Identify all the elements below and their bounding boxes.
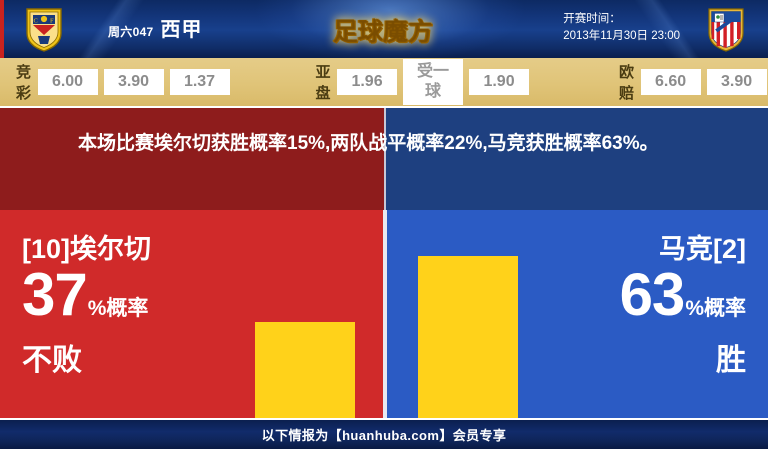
match-probability-infographic: C F 周六047 西甲 足球魔方 开赛时间： 2013年11月30日 23:0… (0, 0, 768, 449)
summary-text: 本场比赛埃尔切获胜概率15%,两队战平概率22%,马竞获胜概率63%。 (78, 128, 698, 160)
odds-group-title: 亚盘 (316, 61, 332, 103)
footer-bar: 以下情报为【huanhuba.com】会员专享 (0, 418, 768, 449)
bar-home-probability (255, 322, 355, 418)
odds-group-european: 欧赔 6.60 3.90 1.51 (619, 61, 768, 103)
kickoff-value: 2013年11月30日 23:00 (563, 28, 680, 45)
svg-text:F: F (50, 18, 54, 25)
odds-cell-draw[interactable]: 3.90 (104, 69, 164, 95)
odds-cell-away[interactable]: 1.37 (170, 69, 230, 95)
odds-group-title: 竞彩 (16, 61, 32, 103)
away-stats-block: 马竞[2] 63 %概率 胜 (620, 232, 746, 382)
odds-group-asian-handicap: 亚盘 1.96 受一球 1.90 (316, 59, 530, 105)
home-percent-line: 37 %概率 (22, 266, 151, 338)
home-percent-value: 37 (22, 266, 87, 324)
elche-cf-crest-icon: C F (24, 6, 64, 52)
away-percent-suffix: %概率 (685, 280, 746, 338)
odds-cell-draw[interactable]: 3.90 (707, 69, 767, 95)
atletico-madrid-crest-icon (706, 6, 746, 52)
footer-text: 以下情报为【huanhuba.com】会员专享 (262, 425, 507, 444)
home-stats-block: [10]埃尔切 37 %概率 不败 (22, 232, 151, 382)
odds-group-jingcai: 竞彩 6.00 3.90 1.37 (16, 61, 230, 103)
home-percent-suffix: %概率 (88, 280, 149, 338)
odds-cell-home[interactable]: 1.96 (337, 69, 397, 95)
away-percent-value: 63 (620, 266, 685, 324)
kickoff-time-block: 开赛时间： 2013年11月30日 23:00 (563, 11, 680, 45)
away-percent-line: 63 %概率 (620, 266, 746, 338)
odds-cell-away[interactable]: 1.90 (469, 69, 529, 95)
league-name: 西甲 (161, 13, 203, 42)
odds-group-title: 欧赔 (619, 61, 635, 103)
summary-banner: 本场比赛埃尔切获胜概率15%,两队战平概率22%,马竞获胜概率63%。 (0, 108, 768, 210)
match-label: 周六047 西甲 (108, 13, 203, 42)
away-outcome-label: 胜 (620, 340, 746, 382)
left-edge-accent-strip (0, 0, 4, 58)
brand-logo: 足球魔方 (333, 12, 433, 48)
probability-chart: [10]埃尔切 37 %概率 不败 马竞[2] 63 %概率 胜 (0, 210, 768, 418)
home-outcome-label: 不败 (22, 340, 151, 382)
svg-text:C: C (34, 18, 38, 25)
header-bar: C F 周六047 西甲 足球魔方 开赛时间： 2013年11月30日 23:0… (0, 0, 768, 58)
odds-cell-home[interactable]: 6.00 (38, 69, 98, 95)
match-round-label: 周六047 (108, 23, 154, 40)
odds-cell-handicap[interactable]: 受一球 (403, 59, 463, 105)
odds-bar: 竞彩 6.00 3.90 1.37 亚盘 1.96 受一球 1.90 欧赔 6.… (0, 58, 768, 108)
chart-divider (383, 210, 387, 418)
odds-cell-home[interactable]: 6.60 (641, 69, 701, 95)
kickoff-label: 开赛时间： (563, 11, 680, 28)
bar-away-probability (418, 256, 518, 418)
